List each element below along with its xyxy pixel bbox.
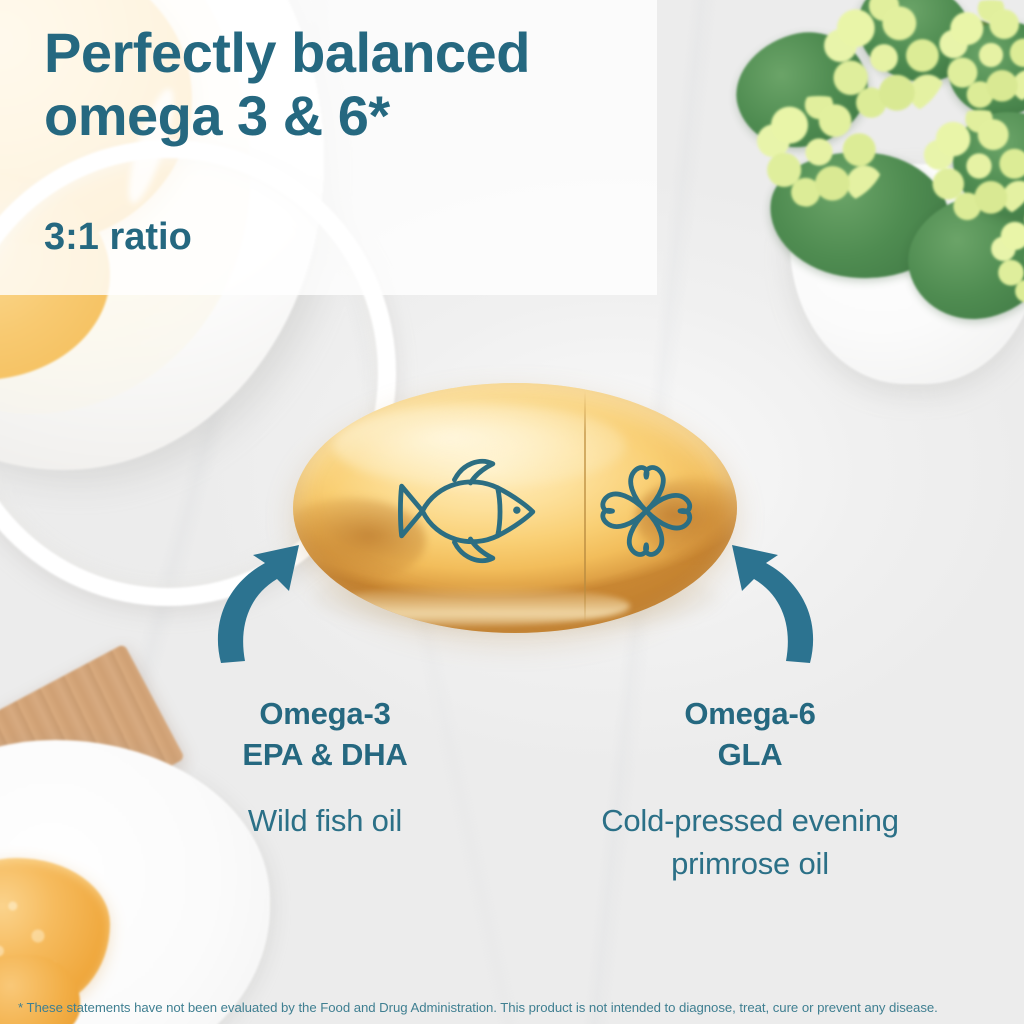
omega3-description: Wild fish oil: [160, 800, 490, 843]
header-overlay-panel: Perfectly balanced omega 3 & 6* 3:1 rati…: [0, 0, 657, 295]
capsule-seam-line: [584, 391, 586, 626]
capsule-body: [293, 383, 737, 633]
promo-graphic: Perfectly balanced omega 3 & 6* 3:1 rati…: [0, 0, 1024, 1024]
omega3-column: Omega-3 EPA & DHA Wild fish oil: [160, 694, 490, 843]
flower-bud-cluster: [752, 96, 886, 208]
fish-icon: [382, 451, 568, 571]
fda-disclaimer: * These statements have not been evaluat…: [18, 1000, 1013, 1015]
omega3-title: Omega-3: [160, 694, 490, 735]
clover-icon: [593, 456, 700, 566]
softgel-capsule: [293, 383, 737, 633]
omega6-column: Omega-6 GLA Cold-pressed evening primros…: [560, 694, 940, 885]
omega6-subtitle: GLA: [560, 735, 940, 776]
omega6-description: Cold-pressed evening primrose oil: [560, 800, 940, 886]
arrow-up-left-curved-icon: [708, 533, 828, 665]
omega6-title: Omega-6: [560, 694, 940, 735]
page-title: Perfectly balanced omega 3 & 6*: [44, 22, 644, 147]
arrow-up-right-curved-icon: [203, 533, 323, 665]
omega3-subtitle: EPA & DHA: [160, 735, 490, 776]
ratio-subtitle: 3:1 ratio: [44, 218, 192, 256]
